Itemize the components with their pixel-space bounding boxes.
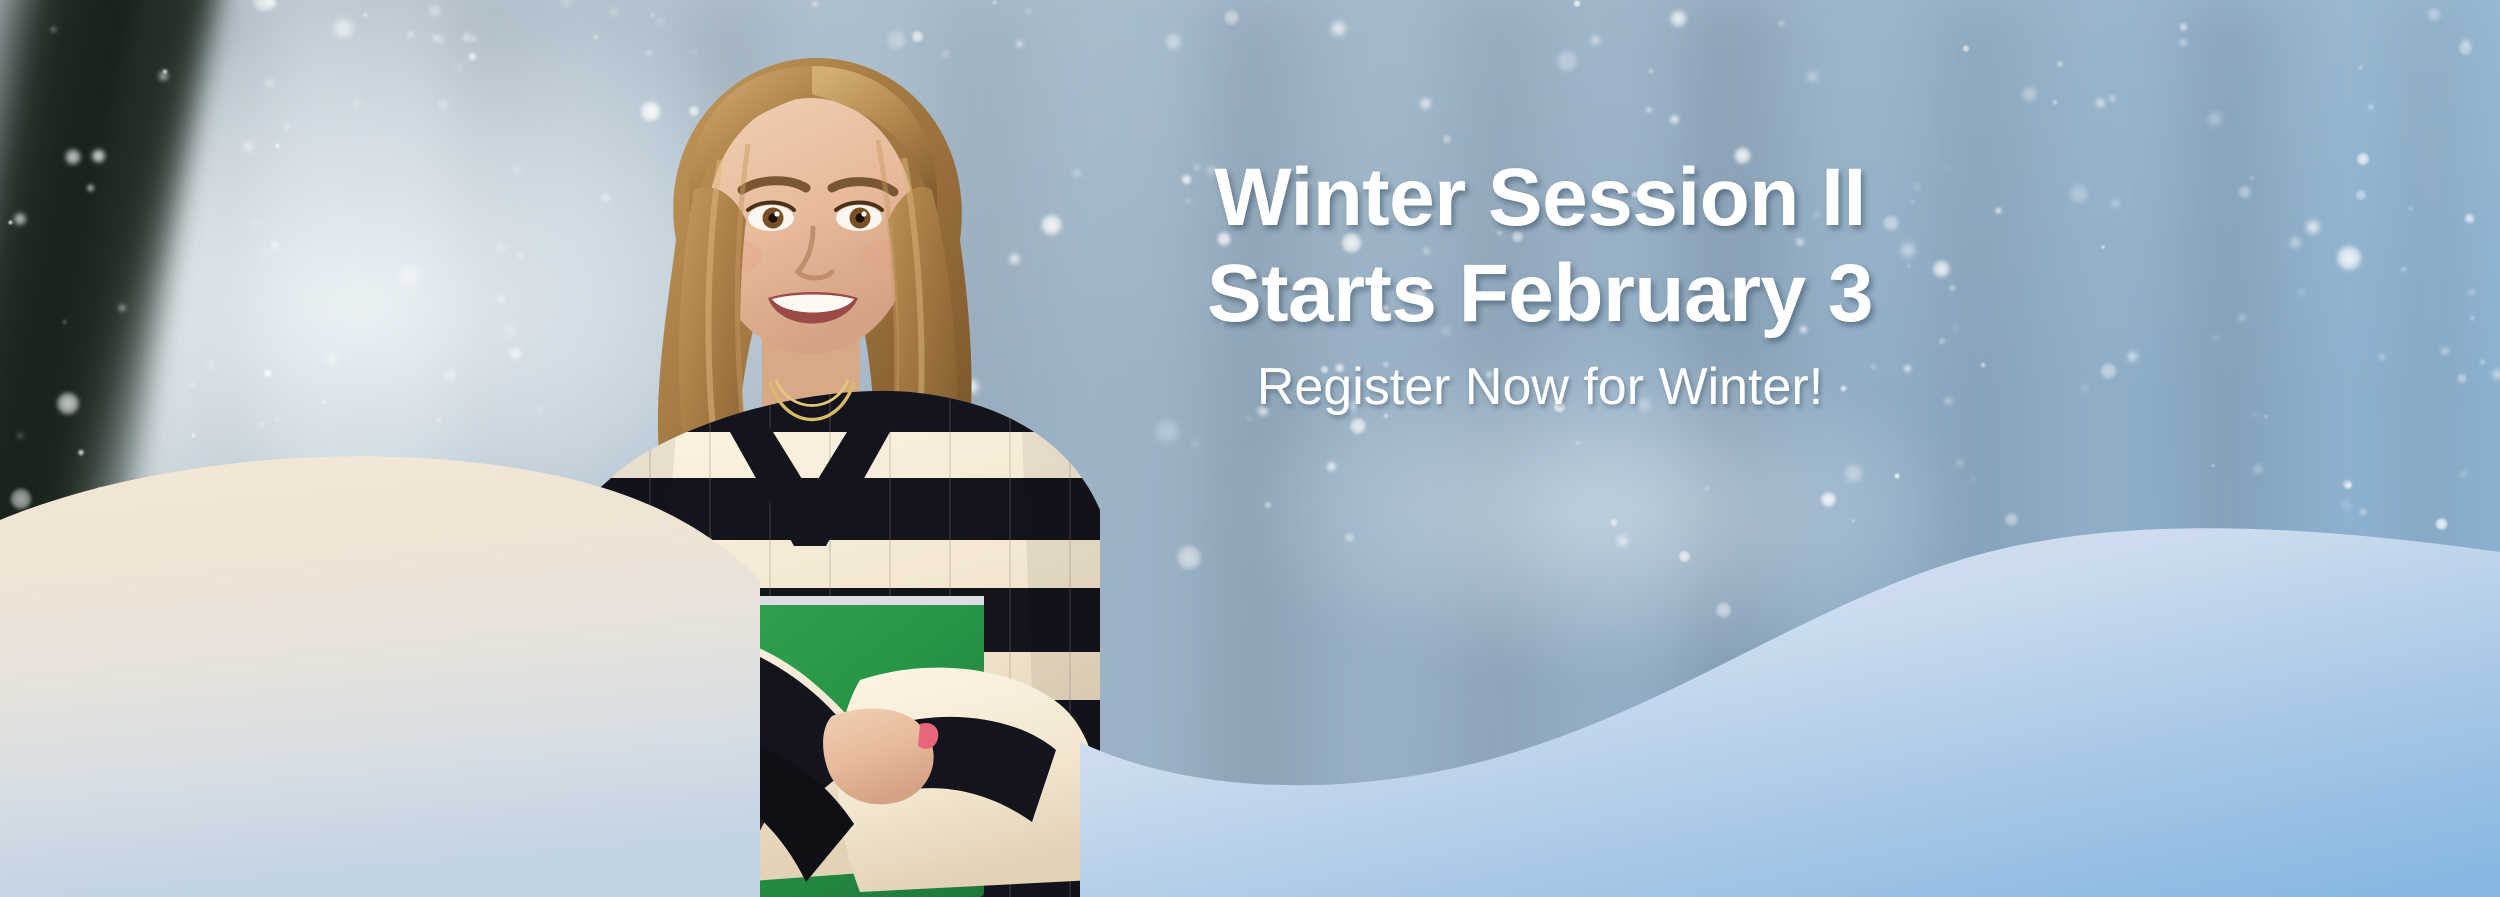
- headline-line-2: Starts February 3: [1175, 246, 1905, 342]
- decorative-wave-right: [0, 0, 2500, 897]
- headline-line-1: Winter Session II: [1175, 150, 1905, 246]
- winter-session-hero-banner: Winter Session II Starts February 3 Regi…: [0, 0, 2500, 897]
- banner-copy: Winter Session II Starts February 3 Regi…: [1175, 150, 1905, 418]
- subheadline: Register Now for Winter!: [1175, 356, 1905, 418]
